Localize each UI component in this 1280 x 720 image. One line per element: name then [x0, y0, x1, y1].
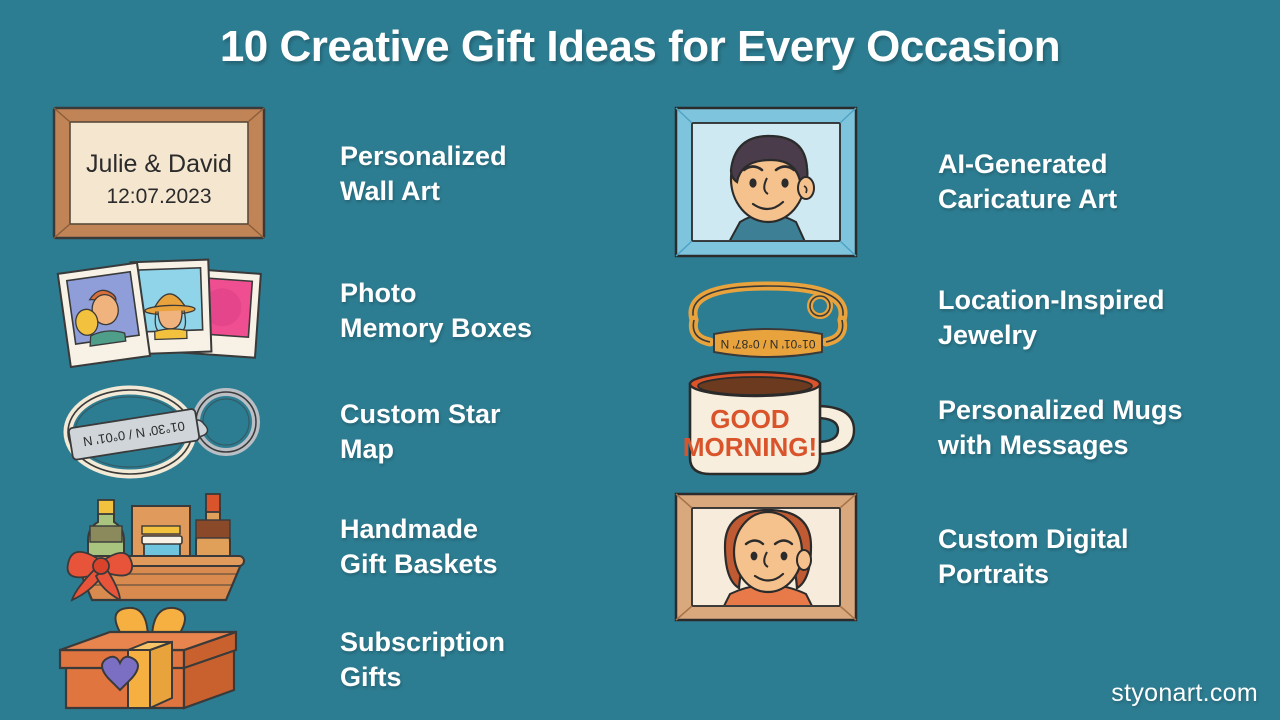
list-item-handmade-gift-baskets: Handmade Gift Baskets: [48, 488, 648, 606]
site-watermark: styonart.com: [1111, 679, 1258, 708]
list-item-personalized-wall-art: Julie & David 12:07.2023 Personalized Wa…: [48, 104, 648, 244]
list-item-label: Subscription Gifts: [340, 625, 505, 694]
list-item-label: Location-Inspired Jewelry: [938, 283, 1165, 352]
wall-art-names: Julie & David: [86, 150, 232, 178]
wall-art-date: 12:07.2023: [106, 185, 211, 208]
keychain-coordinates-icon: 01°30' N / 0°01' N: [48, 376, 280, 488]
list-item-personalized-mugs: GOOD MORNING! Personalized Mugs with Mes…: [668, 370, 1268, 486]
bracelet-engraving: 01°01' N / 0°87' N: [721, 337, 816, 351]
mug-message-line1: GOOD: [710, 404, 789, 434]
polaroid-photos-icon: [48, 253, 280, 369]
page-title: 10 Creative Gift Ideas for Every Occasio…: [0, 22, 1280, 72]
list-item-ai-caricature-art: AI-Generated Caricature Art: [668, 104, 1268, 260]
list-item-label: Personalized Wall Art: [340, 139, 507, 208]
gift-basket-icon: [48, 488, 280, 606]
framed-wall-art-icon: Julie & David 12:07.2023: [48, 104, 280, 244]
infographic-canvas: 10 Creative Gift Ideas for Every Occasio…: [0, 0, 1280, 720]
bracelet-icon: 01°01' N / 0°87' N: [668, 272, 882, 364]
list-item-label: Personalized Mugs with Messages: [938, 393, 1183, 462]
list-item-custom-digital-portraits: Custom Digital Portraits: [668, 490, 1268, 624]
list-item-label: Photo Memory Boxes: [340, 276, 532, 345]
caricature-portrait-icon: [668, 104, 882, 260]
list-item-photo-memory-boxes: Photo Memory Boxes: [48, 253, 648, 369]
digital-portrait-icon: [668, 490, 882, 624]
list-item-label: AI-Generated Caricature Art: [938, 147, 1117, 216]
list-item-label: Custom Digital Portraits: [938, 522, 1129, 591]
list-item-custom-star-map: 01°30' N / 0°01' N Custom Star Map: [48, 376, 648, 488]
coffee-mug-icon: GOOD MORNING!: [668, 370, 882, 486]
list-item-subscription-gifts: Subscription Gifts: [48, 608, 648, 712]
list-item-label: Handmade Gift Baskets: [340, 512, 498, 581]
list-item-location-jewelry: 01°01' N / 0°87' N Location-Inspired Jew…: [668, 272, 1268, 364]
gift-box-icon: [48, 608, 280, 712]
mug-message-line2: MORNING!: [683, 432, 817, 462]
list-item-label: Custom Star Map: [340, 397, 501, 466]
